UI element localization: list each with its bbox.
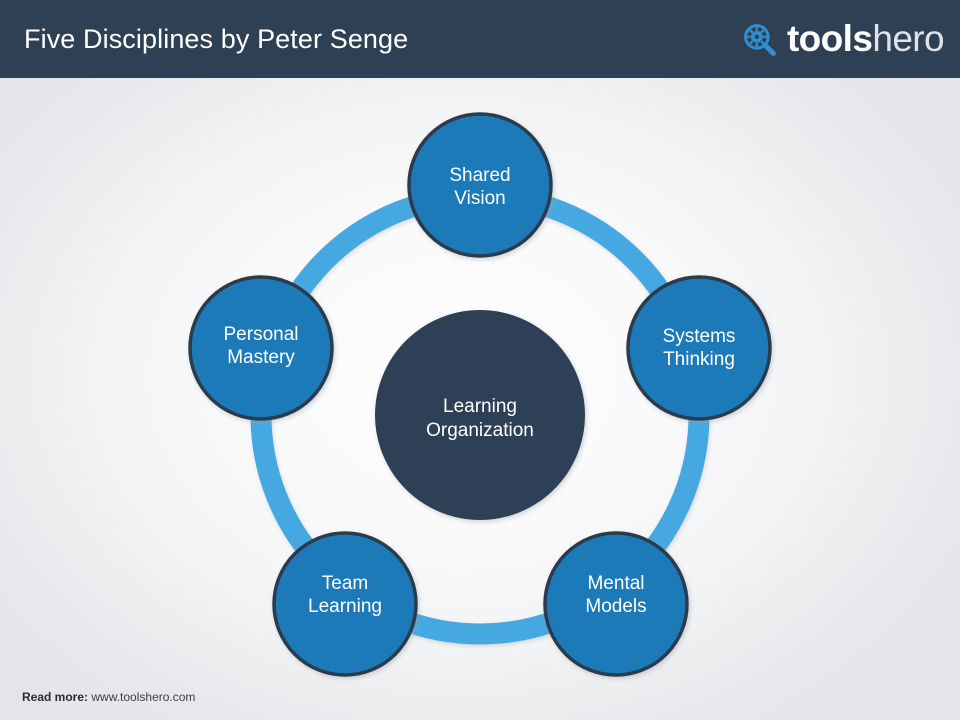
center-label-learning-organization: Learning Organization bbox=[380, 395, 580, 443]
logo-text-tools: tools bbox=[787, 18, 872, 59]
toolshero-logo[interactable]: toolshero bbox=[742, 0, 944, 78]
logo-wordmark: toolshero bbox=[787, 20, 944, 57]
node-circle-shared-vision[interactable] bbox=[409, 114, 551, 256]
node-circle-mental-models[interactable] bbox=[545, 533, 687, 675]
five-disciplines-diagram bbox=[0, 0, 960, 720]
header-bar: Five Disciplines by Peter Senge bbox=[0, 0, 960, 78]
slide-canvas: Five Disciplines by Peter Senge bbox=[0, 0, 960, 720]
logo-text-hero: hero bbox=[872, 18, 944, 59]
footer-url[interactable]: www.toolshero.com bbox=[91, 690, 195, 704]
node-circle-personal-mastery[interactable] bbox=[190, 277, 332, 419]
footer-label: Read more: bbox=[22, 690, 88, 704]
node-circle-systems-thinking[interactable] bbox=[628, 277, 770, 419]
page-title: Five Disciplines by Peter Senge bbox=[24, 0, 408, 78]
magnifier-gear-icon bbox=[742, 22, 778, 58]
node-circle-team-learning[interactable] bbox=[274, 533, 416, 675]
footer-read-more: Read more: www.toolshero.com bbox=[22, 690, 195, 704]
